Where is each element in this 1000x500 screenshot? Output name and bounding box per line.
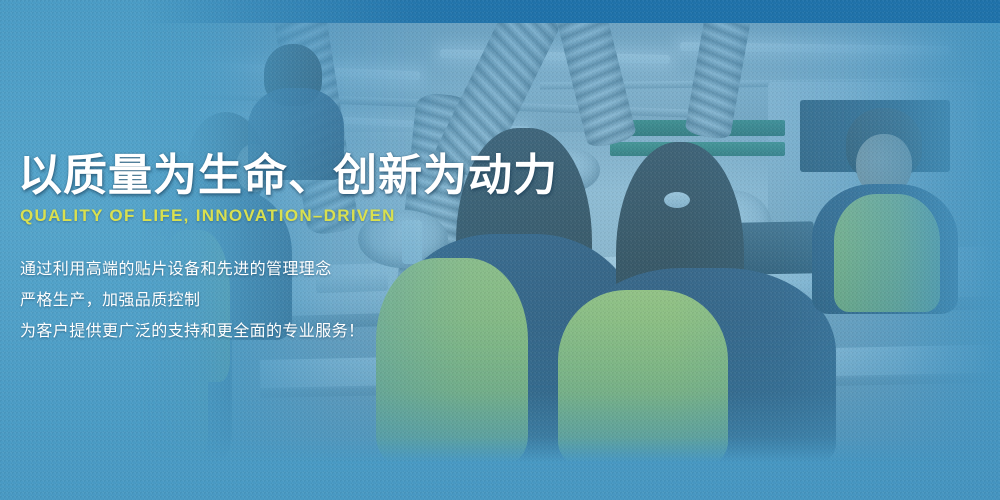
body-line: 为客户提供更广泛的支持和更全面的专业服务！ (20, 322, 578, 342)
body-line: 通过利用高端的贴片设备和先进的管理理念 (20, 260, 578, 280)
body-line: 严格生产，加强品质控制 (20, 291, 578, 311)
top-accent-band (0, 0, 1000, 23)
banner-body-lines: 通过利用高端的贴片设备和先进的管理理念 严格生产，加强品质控制 为客户提供更广泛… (18, 260, 578, 342)
banner-copy-block: 以质量为生命、创新为动力 QUALITY OF LIFE, INNOVATION… (18, 150, 578, 342)
banner-subheadline: QUALITY OF LIFE, INNOVATION–DRIVEN (20, 206, 578, 226)
promotional-banner: 以质量为生命、创新为动力 QUALITY OF LIFE, INNOVATION… (0, 0, 1000, 500)
banner-headline: 以质量为生命、创新为动力 (18, 150, 578, 202)
